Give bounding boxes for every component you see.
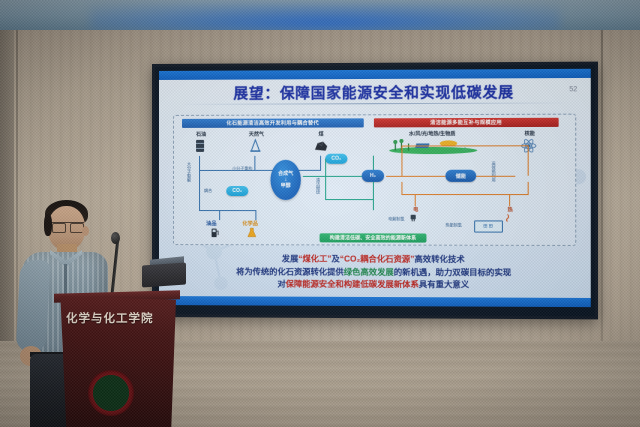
conclusion-l2-seg3: 的新机遇，助力双碳目标的实现 [394,267,512,277]
hair-side [44,214,52,236]
conclusion-l2-seg2: 绿色高效发展 [344,267,394,276]
edge-label-reconstruct: 小分子重构 [232,166,252,172]
output-label-heat: 热 [503,206,517,213]
ear [82,226,89,236]
slide-top-accent-bar [159,69,591,80]
slide-number: 52 [569,86,577,93]
gas-rig-icon [248,139,262,153]
conclusion-line-3: 对保障能源安全和构建低碳发展新体系具有重大意义 [169,278,580,292]
glasses-icon [52,222,84,232]
source-label-gas: 天然气 [236,131,276,138]
diagram-header-right: 清洁能源多能互补与规模应用 [374,118,559,128]
conclusion-l1-seg1: 发展 [282,254,299,263]
flask-icon [246,227,257,238]
edge-out-electric [415,194,416,206]
edge-storage-right [476,176,515,177]
edge-label-coupling: 耦合 [204,188,212,194]
edge-gas-down [254,156,255,170]
conclusion-l1-seg5: 高效转化技术 [414,255,464,264]
edge-to-products [199,210,255,211]
left-arm [16,259,51,352]
node-methanol-label: 甲醇 [281,183,291,189]
heat-icon [503,213,512,222]
edge-label-electrolysis: 电解制氢 [388,216,404,222]
edge-product-chem [255,210,256,220]
presentation-screen[interactable]: 展望：保障国家能源安全和实现低碳发展 52 化石能源清洁高效开发利用与耦合替代 … [152,62,598,320]
edge-bus-to-left [199,170,200,186]
screen-surface: 展望：保障国家能源安全和实现低碳发展 52 化石能源清洁高效开发利用与耦合替代 … [159,69,591,307]
node-syngas-methanol[interactable]: 合成气 ↓ 甲醇 [271,160,301,200]
source-label-coal: 煤 [308,131,334,138]
edge-top-right-bus [401,145,528,146]
product-label-fuel: 油品 [206,220,216,227]
oil-barrel-icon [194,139,206,153]
output-label-electricity: 电 [409,206,423,213]
node-energy-storage[interactable]: 储能 [445,170,476,182]
edge-co2-bottom [325,199,374,200]
conclusion-l1-seg2: “煤化工” [298,254,331,263]
node-co2-left[interactable]: CO₂ [226,186,248,196]
edge-coal-down [320,156,321,170]
source-label-oil: 石油 [184,131,218,138]
edge-h2-to-syngas [303,176,362,177]
edge-storage-down-right [528,182,529,194]
slide-title: 展望：保障国家能源安全和实现低碳发展 [159,81,591,104]
edge-h2-down [373,182,374,210]
conclusion-l3-seg2: 保障能源安全和构建低碳发展新体系 [286,280,419,290]
edge-label-clean-combustion: 清洁燃烧 [315,178,321,194]
conclusion-l1-seg4: “CO₂耦合化石资源” [340,254,415,263]
edge-product-oil [219,210,220,220]
podium: 化学与化工学院 [58,296,176,427]
fuel-pump-icon [210,227,220,238]
edge-label-heat-use: 高效热利用 [491,162,497,182]
edge-renew-down [401,146,402,176]
conclusion-text-block: 发展“煤化工”及“CO₂耦合化石资源”高效转化技术 将为传统的化石资源转化提供绿… [169,253,580,293]
source-label-nuclear: 核能 [509,130,550,137]
edge-co2-line [325,159,326,199]
edge-label-thermal-h2: 热能制氢 [445,222,461,228]
edge-out-heat [509,194,510,206]
edge-nuclear-down [528,145,529,175]
microphone-head-icon [111,232,120,244]
conclusion-l2-seg1: 将为传统的化石资源转化提供 [236,267,344,276]
energy-system-diagram: 化石能源清洁高效开发利用与耦合替代 清洁能源多能互补与规模应用 石油 天然气 煤… [173,114,576,246]
edge-storage-down-left [401,182,402,194]
edge-h2-to-storage [386,176,445,177]
edge-left-down [199,186,200,210]
end-use-grid-icon: ⊞⊞ [474,220,503,232]
diagram-banner: 构建清洁低碳、安全高效的能源新体系 [320,233,427,242]
node-hydrogen[interactable]: H₂ [362,170,384,182]
diagram-header-left: 化石能源清洁高效开发利用与耦合替代 [182,118,364,128]
podium-label: 化学与化工学院 [66,310,170,326]
laptop-base[interactable] [142,262,186,287]
conclusion-l3-seg1: 对 [277,280,285,289]
edge-oil-down [199,156,200,170]
room-scene: 展望：保障国家能源安全和实现低碳发展 52 化石能源清洁高效开发利用与耦合替代 … [0,0,640,427]
conclusion-l3-seg3: 具有重大意义 [419,280,469,289]
coal-lump-icon [313,140,329,153]
edge-label-cracking: 大分子裂解 [186,162,192,182]
ceiling-light-glow [90,4,560,30]
edge-fossil-bus [199,170,321,171]
slide-canvas: 展望：保障国家能源安全和实现低碳发展 52 化石能源清洁高效开发利用与耦合替代 … [159,69,591,307]
plug-icon [409,213,418,222]
university-emblem [88,370,134,416]
edge-h2-up [373,156,374,170]
product-label-chemicals: 化学品 [242,220,258,227]
node-co2-top[interactable]: CO₂ [325,154,347,164]
